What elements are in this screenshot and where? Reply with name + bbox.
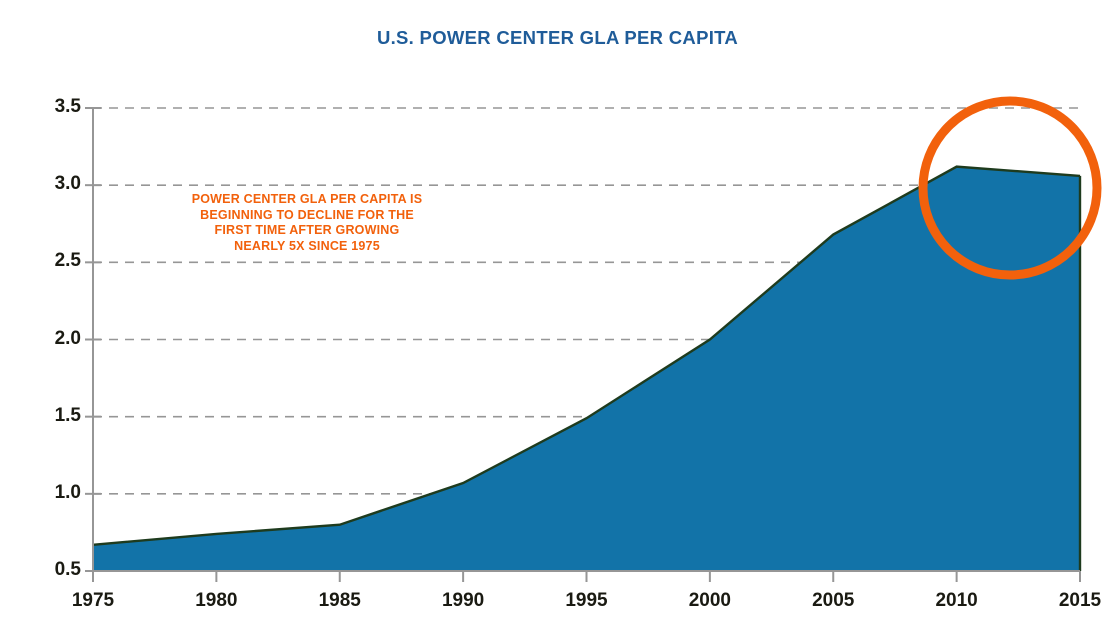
x-tick-label: 1995 bbox=[547, 590, 627, 612]
x-tick-label: 1985 bbox=[300, 590, 380, 612]
callout-annotation-text: POWER CENTER GLA PER CAPITA ISBEGINNING … bbox=[167, 192, 447, 254]
x-tick-label: 2005 bbox=[793, 590, 873, 612]
x-tick-label: 2015 bbox=[1040, 590, 1115, 612]
x-tick-label: 1990 bbox=[423, 590, 503, 612]
chart-container: U.S. POWER CENTER GLA PER CAPITA 0.51.01… bbox=[0, 0, 1115, 621]
x-tick-label: 1980 bbox=[176, 590, 256, 612]
y-tick-label: 1.0 bbox=[35, 482, 81, 504]
callout-line: POWER CENTER GLA PER CAPITA IS bbox=[167, 192, 447, 208]
x-tick-label: 2000 bbox=[670, 590, 750, 612]
y-tick-label: 1.5 bbox=[35, 405, 81, 427]
y-tick-label: 0.5 bbox=[35, 559, 81, 581]
chart-plot-area bbox=[0, 0, 1115, 621]
y-tick-label: 2.5 bbox=[35, 250, 81, 272]
x-tick-label: 2010 bbox=[917, 590, 997, 612]
callout-line: FIRST TIME AFTER GROWING bbox=[167, 223, 447, 239]
y-tick-label: 3.5 bbox=[35, 96, 81, 118]
y-tick-label: 3.0 bbox=[35, 173, 81, 195]
callout-line: BEGINNING TO DECLINE FOR THE bbox=[167, 208, 447, 224]
x-tick-label: 1975 bbox=[53, 590, 133, 612]
y-tick-label: 2.0 bbox=[35, 328, 81, 350]
callout-line: NEARLY 5X SINCE 1975 bbox=[167, 239, 447, 255]
